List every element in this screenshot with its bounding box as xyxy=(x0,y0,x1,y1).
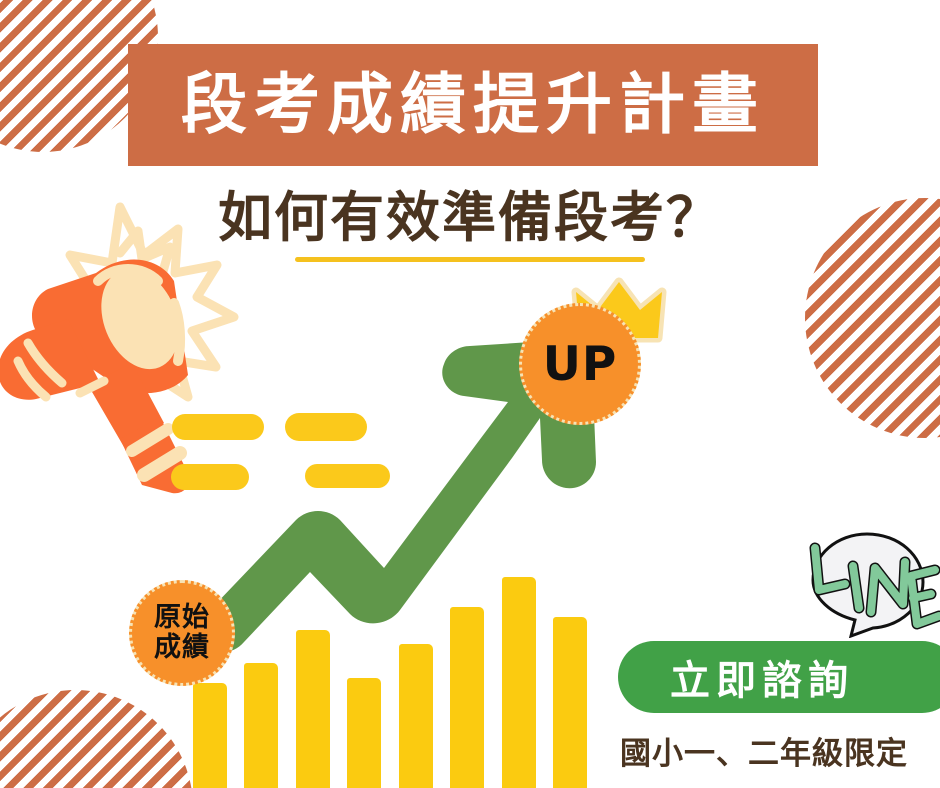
striped-circle-bottom-left xyxy=(0,690,193,788)
subtitle-underline xyxy=(295,257,645,262)
poster-canvas: 段考成績提升計畫 如何有效準備段考？ xyxy=(0,0,940,788)
title-banner: 段考成績提升計畫 xyxy=(128,44,818,166)
badge-original-score: 原始 成績 xyxy=(129,580,235,686)
page-title: 段考成績提升計畫 xyxy=(181,72,765,138)
chart-bar xyxy=(244,663,278,788)
consult-now-button[interactable]: 立即諮詢 xyxy=(618,641,940,713)
line-logo-icon xyxy=(793,528,940,638)
badge-original-line1: 原始 xyxy=(154,603,210,633)
badge-original-line2: 成績 xyxy=(154,633,210,663)
eligibility-note: 國小一、二年級限定 xyxy=(620,728,940,773)
chart-bar xyxy=(347,678,381,788)
badge-up-label: UP xyxy=(543,337,618,392)
badge-up: UP xyxy=(519,303,641,425)
chart-bar xyxy=(399,644,433,788)
chart-bar xyxy=(193,683,227,788)
consult-now-label: 立即諮詢 xyxy=(670,648,854,706)
